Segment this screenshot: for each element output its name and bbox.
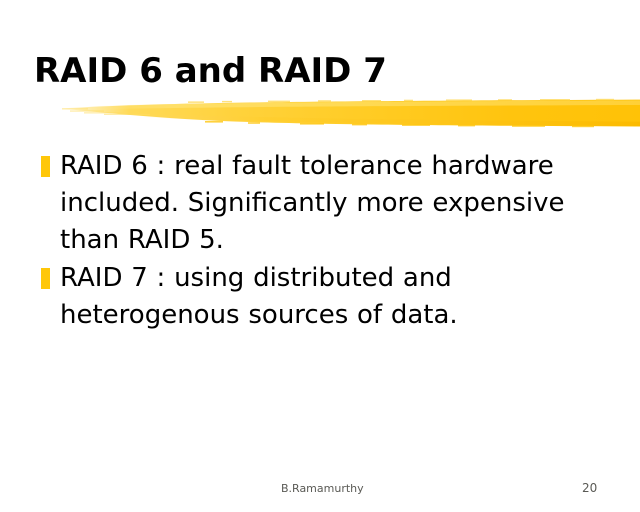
bullet-list: RAID 6 : real fault tolerance hardware i… [34, 148, 614, 334]
footer-author: B.Ramamurthy [281, 482, 364, 495]
yellow-square-bullet-icon [41, 156, 50, 177]
slide-page-number: 20 [582, 482, 597, 495]
list-item: RAID 7 : using distributed and heterogen… [34, 260, 614, 334]
title-underline-brush-stroke [0, 92, 640, 134]
presentation-slide: RAID 6 and RAID 7 [0, 0, 640, 512]
slide-title: RAID 6 and RAID 7 [34, 52, 604, 90]
list-item: RAID 6 : real fault tolerance hardware i… [34, 148, 614, 259]
bullet-text: RAID 6 : real fault tolerance hardware i… [60, 148, 576, 259]
yellow-square-bullet-icon [41, 268, 50, 289]
bullet-text: RAID 7 : using distributed and heterogen… [60, 260, 576, 334]
